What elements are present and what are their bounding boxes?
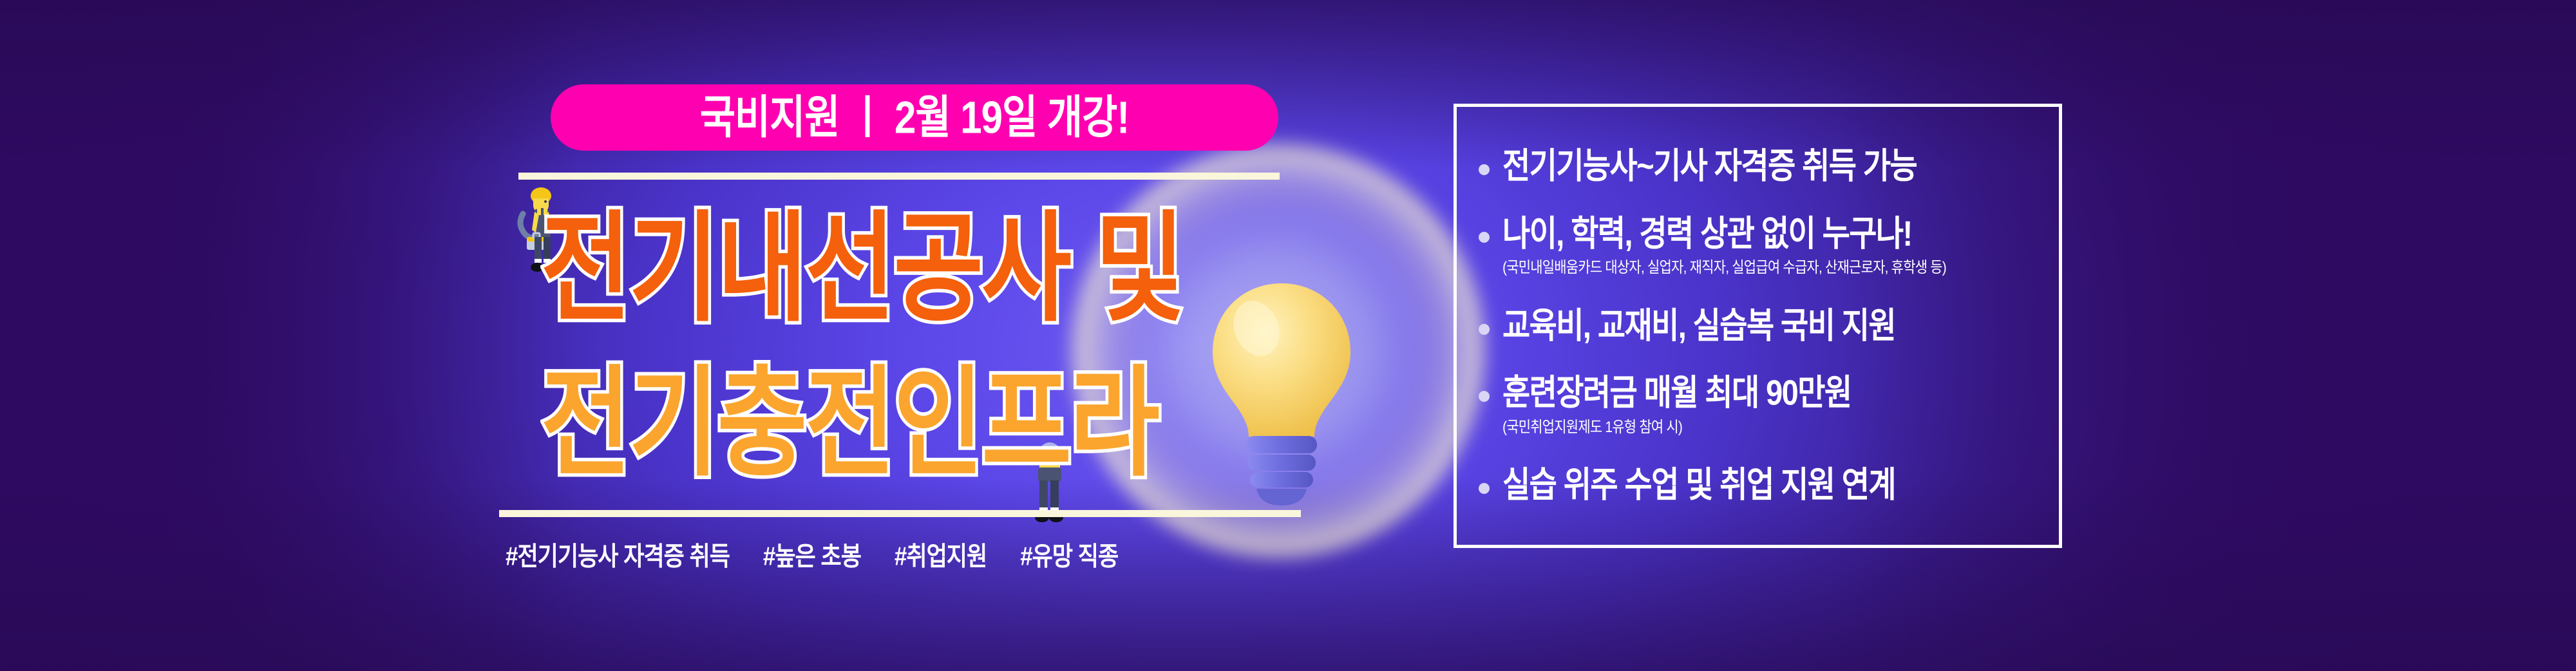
course-start-badge: 국비지원 ㅣ 2월 19일 개강! <box>551 84 1278 151</box>
benefit-body: 나이, 학력, 경력 상관 없이 누구나! (국민내일배움카드 대상자, 실업자… <box>1502 218 1946 276</box>
bullet-dot-icon <box>1479 164 1490 175</box>
headline-line-2-text: 전기충전인프라 <box>541 364 1158 483</box>
benefit-item: 전기기능사~기사 자격증 취득 가능 <box>1479 150 2041 183</box>
bullet-dot-icon <box>1479 232 1490 243</box>
benefit-label: 교육비, 교재비, 실습복 국비 지원 <box>1502 307 1895 345</box>
divider-bottom <box>499 510 1301 517</box>
benefit-label: 나이, 학력, 경력 상관 없이 누구나! <box>1502 214 1946 252</box>
hashtag-item: #높은 초봉 <box>763 535 861 573</box>
benefit-body: 교육비, 교재비, 실습복 국비 지원 <box>1502 310 1895 343</box>
benefit-item: 교육비, 교재비, 실습복 국비 지원 <box>1479 310 2041 343</box>
hashtag-item: #전기기능사 자격증 취득 <box>506 535 730 573</box>
benefit-label: 실습 위주 수업 및 취업 지원 연계 <box>1502 466 1895 504</box>
benefit-body: 전기기능사~기사 자격증 취득 가능 <box>1502 150 1917 183</box>
benefits-panel: 전기기능사~기사 자격증 취득 가능 나이, 학력, 경력 상관 없이 누구나!… <box>1454 104 2062 548</box>
bullet-dot-icon <box>1479 391 1490 402</box>
headline-line-2: 전기충전인프라 <box>541 364 1391 462</box>
benefit-note: (국민내일배움카드 대상자, 실업자, 재직자, 실업급여 수급자, 산재근로자… <box>1502 256 1946 278</box>
hashtag-item: #취업지원 <box>895 535 987 573</box>
bullet-dot-icon <box>1479 483 1490 494</box>
promo-banner: 국비지원 ㅣ 2월 19일 개강! 전기내선공사 및 전기충전인프라 #전기기능… <box>0 0 2576 671</box>
benefit-item: 훈련장려금 매월 최대 90만원 (국민취업지원제도 1유형 참여 시) <box>1479 377 2041 435</box>
benefit-item: 실습 위주 수업 및 취업 지원 연계 <box>1479 469 2041 502</box>
benefit-label: 전기기능사~기사 자격증 취득 가능 <box>1502 147 1917 185</box>
benefit-item: 나이, 학력, 경력 상관 없이 누구나! (국민내일배움카드 대상자, 실업자… <box>1479 218 2041 276</box>
benefit-note: (국민취업지원제도 1유형 참여 시) <box>1502 415 1851 437</box>
course-start-badge-label: 국비지원 ㅣ 2월 19일 개강! <box>700 95 1130 140</box>
benefit-label: 훈련장려금 매월 최대 90만원 <box>1502 373 1851 411</box>
benefit-body: 실습 위주 수업 및 취업 지원 연계 <box>1502 469 1895 502</box>
divider-top <box>518 173 1280 180</box>
headline-line-1: 전기내선공사 및 <box>541 209 1391 307</box>
headline-line-1-text: 전기내선공사 및 <box>541 209 1183 328</box>
hashtag-list: #전기기능사 자격증 취득 #높은 초봉 #취업지원 #유망 직종 <box>506 538 1330 571</box>
bullet-dot-icon <box>1479 324 1490 335</box>
benefit-body: 훈련장려금 매월 최대 90만원 (국민취업지원제도 1유형 참여 시) <box>1502 377 1851 435</box>
hashtag-item: #유망 직종 <box>1020 535 1118 573</box>
background-top-vignette <box>0 0 2576 167</box>
